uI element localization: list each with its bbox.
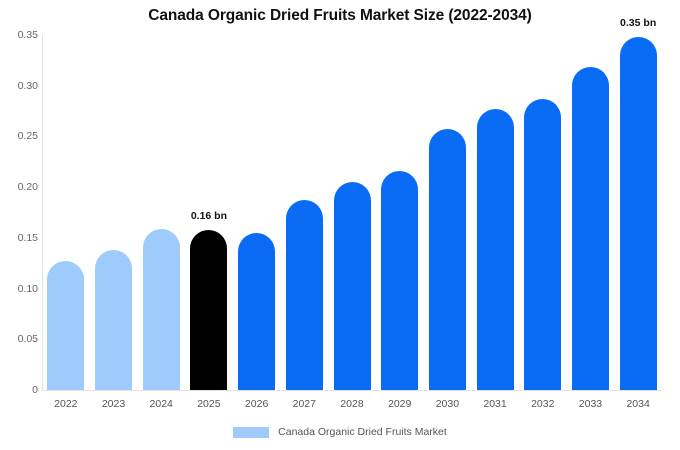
- bar[interactable]: [429, 129, 466, 390]
- y-axis-tick-labels: 00.050.100.150.200.250.300.35: [0, 0, 38, 450]
- bar-group: [143, 35, 180, 390]
- bar-group: [47, 35, 84, 390]
- y-axis-tick-label: 0.20: [2, 181, 38, 193]
- bar[interactable]: [95, 250, 132, 390]
- x-axis-tick-label: 2028: [328, 398, 376, 410]
- bar-group: [429, 35, 466, 390]
- bar[interactable]: [620, 37, 657, 390]
- y-axis-tick-label: 0.15: [2, 232, 38, 244]
- bar[interactable]: [47, 261, 84, 390]
- x-axis-tick-label: 2022: [42, 398, 90, 410]
- bar-group: [381, 35, 418, 390]
- x-axis-tick-label: 2031: [471, 398, 519, 410]
- bar[interactable]: [334, 182, 371, 390]
- chart-title: Canada Organic Dried Fruits Market Size …: [0, 7, 680, 25]
- y-axis-tick-label: 0: [2, 384, 38, 396]
- x-axis-tick-label: 2030: [424, 398, 472, 410]
- bar[interactable]: [524, 99, 561, 390]
- bar-group: [95, 35, 132, 390]
- y-axis-tick-label: 0.35: [2, 29, 38, 41]
- x-axis-tick-label: 2025: [185, 398, 233, 410]
- x-axis-tick-label: 2024: [137, 398, 185, 410]
- plot-area: 0.16 bn0.35 bn: [42, 35, 662, 390]
- bar[interactable]: [143, 229, 180, 390]
- y-axis-tick-label: 0.30: [2, 80, 38, 92]
- bar-chart: Canada Organic Dried Fruits Market Size …: [0, 0, 680, 450]
- bar-value-label: 0.35 bn: [620, 17, 656, 29]
- bar[interactable]: [572, 67, 609, 390]
- y-axis-tick-label: 0.25: [2, 130, 38, 142]
- bar[interactable]: [238, 233, 275, 390]
- legend-label: Canada Organic Dried Fruits Market: [278, 426, 447, 438]
- x-axis-tick-label: 2023: [90, 398, 138, 410]
- bar-group: [477, 35, 514, 390]
- y-axis-tick-label: 0.05: [2, 333, 38, 345]
- legend-swatch-icon: [233, 427, 269, 438]
- x-axis-line: [42, 390, 662, 391]
- x-axis-tick-label: 2029: [376, 398, 424, 410]
- x-axis-tick-label: 2034: [614, 398, 662, 410]
- x-axis-tick-label: 2026: [233, 398, 281, 410]
- bar-group: [286, 35, 323, 390]
- bar-group: [572, 35, 609, 390]
- bar-group: [524, 35, 561, 390]
- x-axis-tick-label: 2033: [567, 398, 615, 410]
- bar-group: [334, 35, 371, 390]
- chart-legend: Canada Organic Dried Fruits Market: [0, 426, 680, 438]
- bar[interactable]: [477, 109, 514, 390]
- bar[interactable]: [190, 230, 227, 390]
- bar[interactable]: [381, 171, 418, 390]
- bar-group: [238, 35, 275, 390]
- bar-value-label: 0.16 bn: [191, 210, 227, 222]
- x-axis-tick-label: 2027: [280, 398, 328, 410]
- bar[interactable]: [286, 200, 323, 390]
- bar-group: 0.16 bn: [190, 35, 227, 390]
- y-axis-tick-label: 0.10: [2, 283, 38, 295]
- bar-group: 0.35 bn: [620, 35, 657, 390]
- x-axis-tick-label: 2032: [519, 398, 567, 410]
